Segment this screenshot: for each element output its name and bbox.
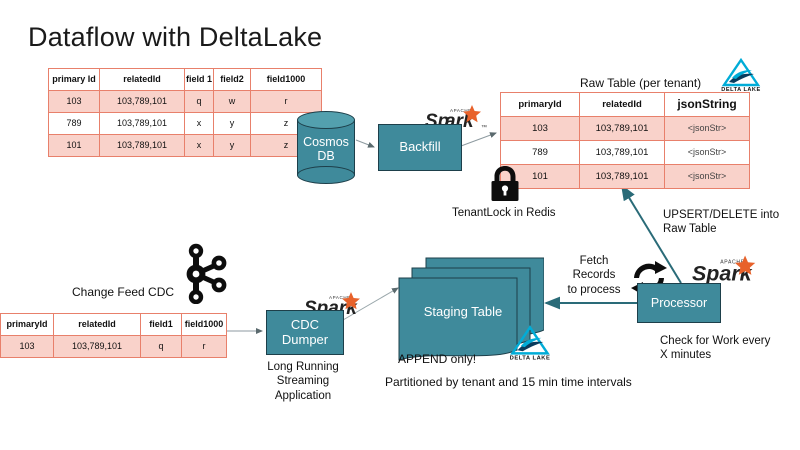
change-feed-cdc-label: Change Feed CDC bbox=[72, 285, 174, 300]
th-json-string: jsonString bbox=[665, 93, 750, 117]
cylinder-top bbox=[297, 111, 355, 129]
th-field2: field2 bbox=[214, 69, 251, 91]
cell: 789 bbox=[501, 141, 580, 165]
long-running-streaming-label: Long Running Streaming Application bbox=[255, 360, 351, 403]
cell: 103,789,101 bbox=[100, 135, 185, 157]
staging-table-label: Staging Table bbox=[398, 304, 528, 319]
long-running-line-2: Streaming bbox=[255, 374, 351, 388]
lock-icon bbox=[488, 164, 522, 207]
cdc-dumper-line-2: Dumper bbox=[282, 333, 328, 348]
table-header-row: primaryId relatedId jsonString bbox=[501, 93, 750, 117]
tenant-lock-label: TenantLock in Redis bbox=[452, 206, 556, 220]
svg-text:™: ™ bbox=[481, 124, 487, 131]
cell: x bbox=[185, 113, 214, 135]
processor-label: Processor bbox=[651, 296, 707, 310]
processor-box[interactable]: Processor bbox=[637, 283, 721, 323]
fetch-records-label: Fetch Records to process bbox=[566, 254, 622, 297]
table-header-row: primaryId relatedId field1 field1000 bbox=[1, 314, 227, 336]
table-row: 101 103,789,101 <jsonStr> bbox=[501, 165, 750, 189]
long-running-line-3: Application bbox=[255, 389, 351, 403]
cell: 103,789,101 bbox=[100, 113, 185, 135]
cell: y bbox=[214, 135, 251, 157]
cdc-dumper-line-1: CDC bbox=[282, 318, 328, 333]
long-running-line-1: Long Running bbox=[255, 360, 351, 374]
cosmos-line-1: Cosmos bbox=[297, 135, 355, 149]
th-related-id: relatedId bbox=[580, 93, 665, 117]
raw-data-table: primaryId relatedId jsonString 103 103,7… bbox=[500, 92, 750, 189]
cell: r bbox=[251, 91, 322, 113]
cell: <jsonStr> bbox=[665, 141, 750, 165]
partitioned-label: Partitioned by tenant and 15 min time in… bbox=[385, 375, 632, 390]
table-row: 789 103,789,101 x y z bbox=[49, 113, 322, 135]
fetch-line-2: Records bbox=[566, 268, 622, 282]
cell: r bbox=[182, 336, 227, 358]
th-field1000: field1000 bbox=[182, 314, 227, 336]
cell: 103 bbox=[49, 91, 100, 113]
cell: 103,789,101 bbox=[100, 91, 185, 113]
apache-spark-logo: Spark APACHE bbox=[692, 253, 762, 285]
backfill-process-box[interactable]: Backfill bbox=[378, 124, 462, 171]
cell: x bbox=[185, 135, 214, 157]
cell: 101 bbox=[49, 135, 100, 157]
table-header-row: primary Id relatedId field 1 field2 fiel… bbox=[49, 69, 322, 91]
th-primary-id: primaryId bbox=[501, 93, 580, 117]
table-row: 101 103,789,101 x y z bbox=[49, 135, 322, 157]
raw-table-caption: Raw Table (per tenant) bbox=[580, 76, 701, 91]
backfill-label: Backfill bbox=[399, 140, 440, 155]
cell: q bbox=[185, 91, 214, 113]
th-related-id: relatedId bbox=[54, 314, 141, 336]
upsert-line-2: Raw Table bbox=[663, 222, 779, 236]
cell: q bbox=[141, 336, 182, 358]
table-row: 103 103,789,101 q w r bbox=[49, 91, 322, 113]
cdc-data-table: primaryId relatedId field1 field1000 103… bbox=[0, 313, 227, 358]
check-work-line-2: X minutes bbox=[660, 348, 770, 362]
page-title: Dataflow with DeltaLake bbox=[28, 22, 322, 53]
append-only-label: APPEND only! bbox=[398, 352, 476, 367]
fetch-line-3: to process bbox=[566, 283, 622, 297]
cell: 103,789,101 bbox=[580, 165, 665, 189]
delta-lake-wordmark: DELTA LAKE bbox=[510, 356, 551, 361]
th-field1: field1 bbox=[141, 314, 182, 336]
cell: 103,789,101 bbox=[580, 117, 665, 141]
cell: y bbox=[214, 113, 251, 135]
cell: 103,789,101 bbox=[580, 141, 665, 165]
th-field1: field 1 bbox=[185, 69, 214, 91]
cell: 789 bbox=[49, 113, 100, 135]
table-row: 103 103,789,101 <jsonStr> bbox=[501, 117, 750, 141]
delta-lake-logo: DELTA LAKE bbox=[500, 325, 560, 366]
cell: 103 bbox=[1, 336, 54, 358]
cylinder-bottom bbox=[297, 166, 355, 184]
check-for-work-label: Check for Work every X minutes bbox=[660, 334, 770, 363]
upsert-line-1: UPSERT/DELETE into bbox=[663, 208, 779, 222]
cell: <jsonStr> bbox=[665, 117, 750, 141]
check-work-line-1: Check for Work every bbox=[660, 334, 770, 348]
fetch-line-1: Fetch bbox=[566, 254, 622, 268]
th-primary-id: primary Id bbox=[49, 69, 100, 91]
cell: w bbox=[214, 91, 251, 113]
source-data-table: primary Id relatedId field 1 field2 fiel… bbox=[48, 68, 322, 157]
table-row: 103 103,789,101 q r bbox=[1, 336, 227, 358]
cosmos-db-label: Cosmos DB bbox=[297, 135, 355, 164]
kafka-icon bbox=[178, 242, 230, 309]
cosmos-db-cylinder: Cosmos DB bbox=[297, 111, 355, 184]
cell: <jsonStr> bbox=[665, 165, 750, 189]
upsert-delete-label: UPSERT/DELETE into Raw Table bbox=[663, 208, 779, 237]
cdc-dumper-box[interactable]: CDC Dumper bbox=[266, 310, 344, 355]
table-row: 789 103,789,101 <jsonStr> bbox=[501, 141, 750, 165]
th-field1000: field1000 bbox=[251, 69, 322, 91]
cell: 103 bbox=[501, 117, 580, 141]
cell: 103,789,101 bbox=[54, 336, 141, 358]
th-primary-id: primaryId bbox=[1, 314, 54, 336]
cosmos-line-2: DB bbox=[297, 149, 355, 163]
th-related-id: relatedId bbox=[100, 69, 185, 91]
